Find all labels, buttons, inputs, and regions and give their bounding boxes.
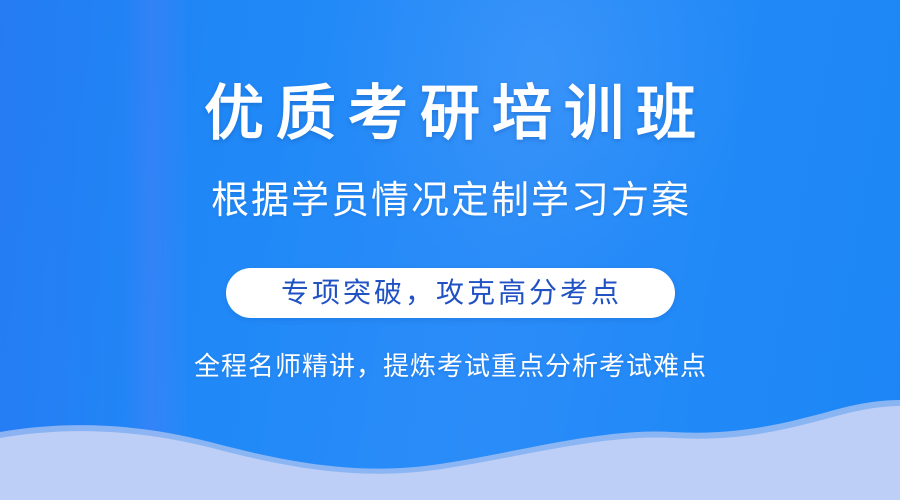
highlight-badge-label: 专项突破，攻克高分考点 <box>278 278 622 308</box>
banner-title: 优质考研培训班 <box>0 78 900 150</box>
banner-tagline: 全程名师精讲，提炼考试重点分析考试难点 <box>0 349 900 383</box>
banner-content: 优质考研培训班 根据学员情况定制学习方案 专项突破，攻克高分考点 全程名师精讲，… <box>0 0 900 500</box>
banner-subtitle: 根据学员情况定制学习方案 <box>0 177 900 225</box>
highlight-badge: 专项突破，攻克高分考点 <box>226 268 675 318</box>
badge-row: 专项突破，攻克高分考点 <box>0 268 900 318</box>
promo-banner: 优质考研培训班 根据学员情况定制学习方案 专项突破，攻克高分考点 全程名师精讲，… <box>0 0 900 500</box>
